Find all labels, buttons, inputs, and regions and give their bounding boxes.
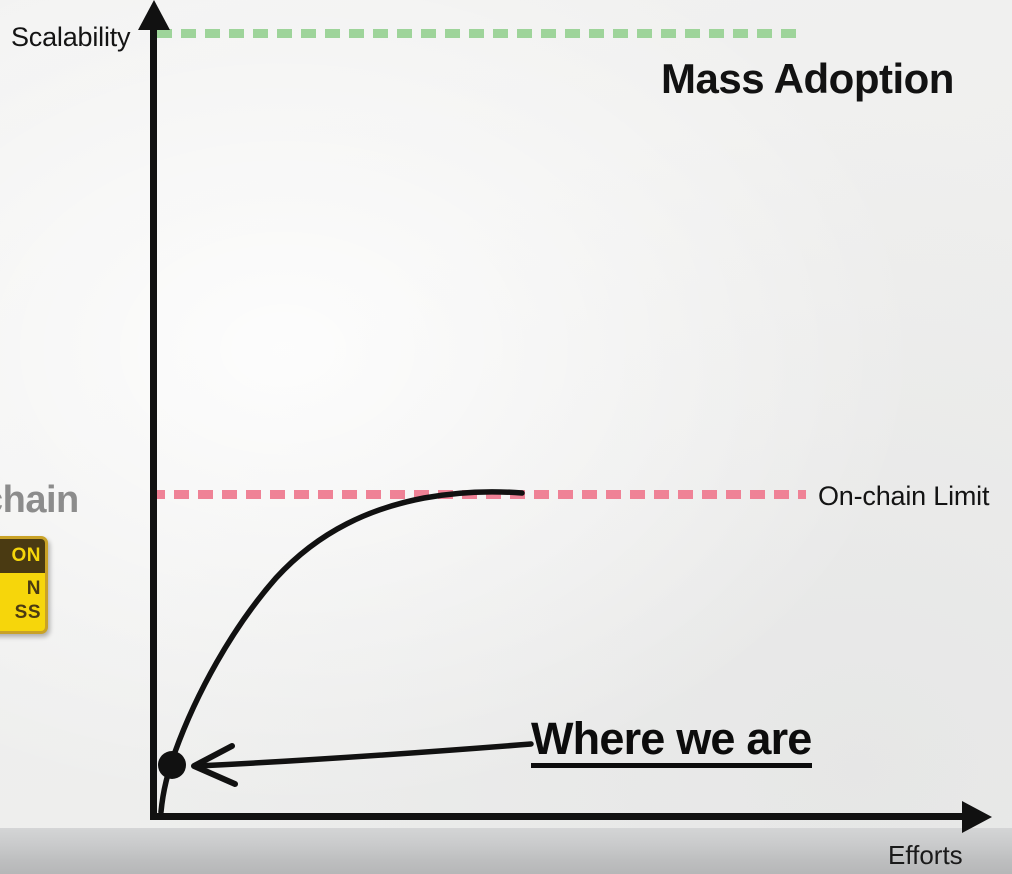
road-sign-body: N SS <box>0 573 45 628</box>
x-axis-label: Efforts <box>888 840 963 871</box>
bottom-band <box>0 828 1012 874</box>
slide-canvas: Scalability Efforts Mass Adoption On-cha… <box>0 0 1012 874</box>
scalability-threshold-dashed-line <box>157 29 802 38</box>
callout-arrow-shaft <box>197 744 531 766</box>
road-sign-graphic: ON N SS <box>0 536 48 634</box>
offchain-label-cropped: chain <box>0 479 79 522</box>
road-sign-line-mid: N <box>27 577 41 601</box>
scaling-curve <box>161 492 522 812</box>
x-axis <box>150 813 978 820</box>
origin-marker-dot <box>158 751 186 779</box>
y-axis-label: Scalability <box>11 22 130 53</box>
road-sign-line-bottom: SS <box>15 601 41 625</box>
where-we-are-annotation: Where we are <box>531 715 812 768</box>
onchain-limit-label: On-chain Limit <box>818 481 989 512</box>
mass-adoption-title: Mass Adoption <box>661 55 954 103</box>
arrow-right-icon <box>962 801 992 833</box>
arrow-up-icon <box>138 0 170 30</box>
callout-arrow-head <box>194 746 235 784</box>
onchain-limit-dashed-line <box>150 490 806 499</box>
y-axis <box>150 22 157 820</box>
road-sign-header-text: ON <box>0 539 45 573</box>
